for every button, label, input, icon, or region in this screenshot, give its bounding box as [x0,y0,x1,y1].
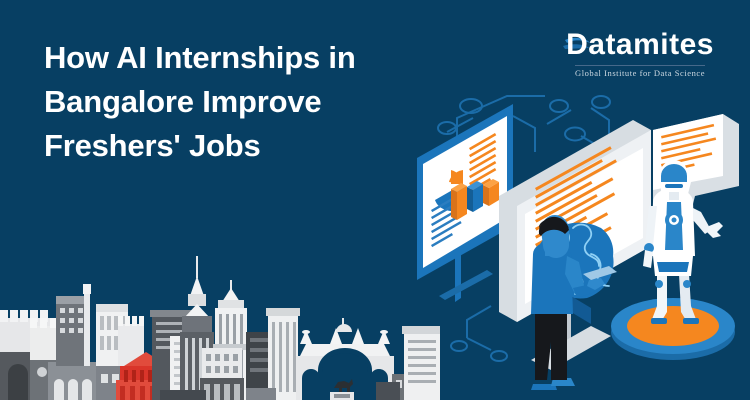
ai-data-science-isometric-illustration [395,78,750,400]
logo-divider [575,65,705,66]
headline-line-1: How AI Internships in [44,36,444,80]
logo-wordmark: Datamites [566,28,714,62]
skyline-buildings [0,256,440,400]
logo-name: Datamites [566,28,714,61]
banner-root: How AI Internships in Bangalore Improve … [0,0,750,400]
bangalore-city-skyline [0,240,440,400]
datamites-logo[interactable]: Datamites Global Institute for Data Scie… [566,28,714,78]
headline-line-3: Freshers' Jobs [44,124,444,168]
robot-platform [611,298,735,360]
page-title: How AI Internships in Bangalore Improve … [44,36,444,168]
headline-line-2: Bangalore Improve [44,80,444,124]
logo-tagline: Global Institute for Data Science [566,68,714,78]
